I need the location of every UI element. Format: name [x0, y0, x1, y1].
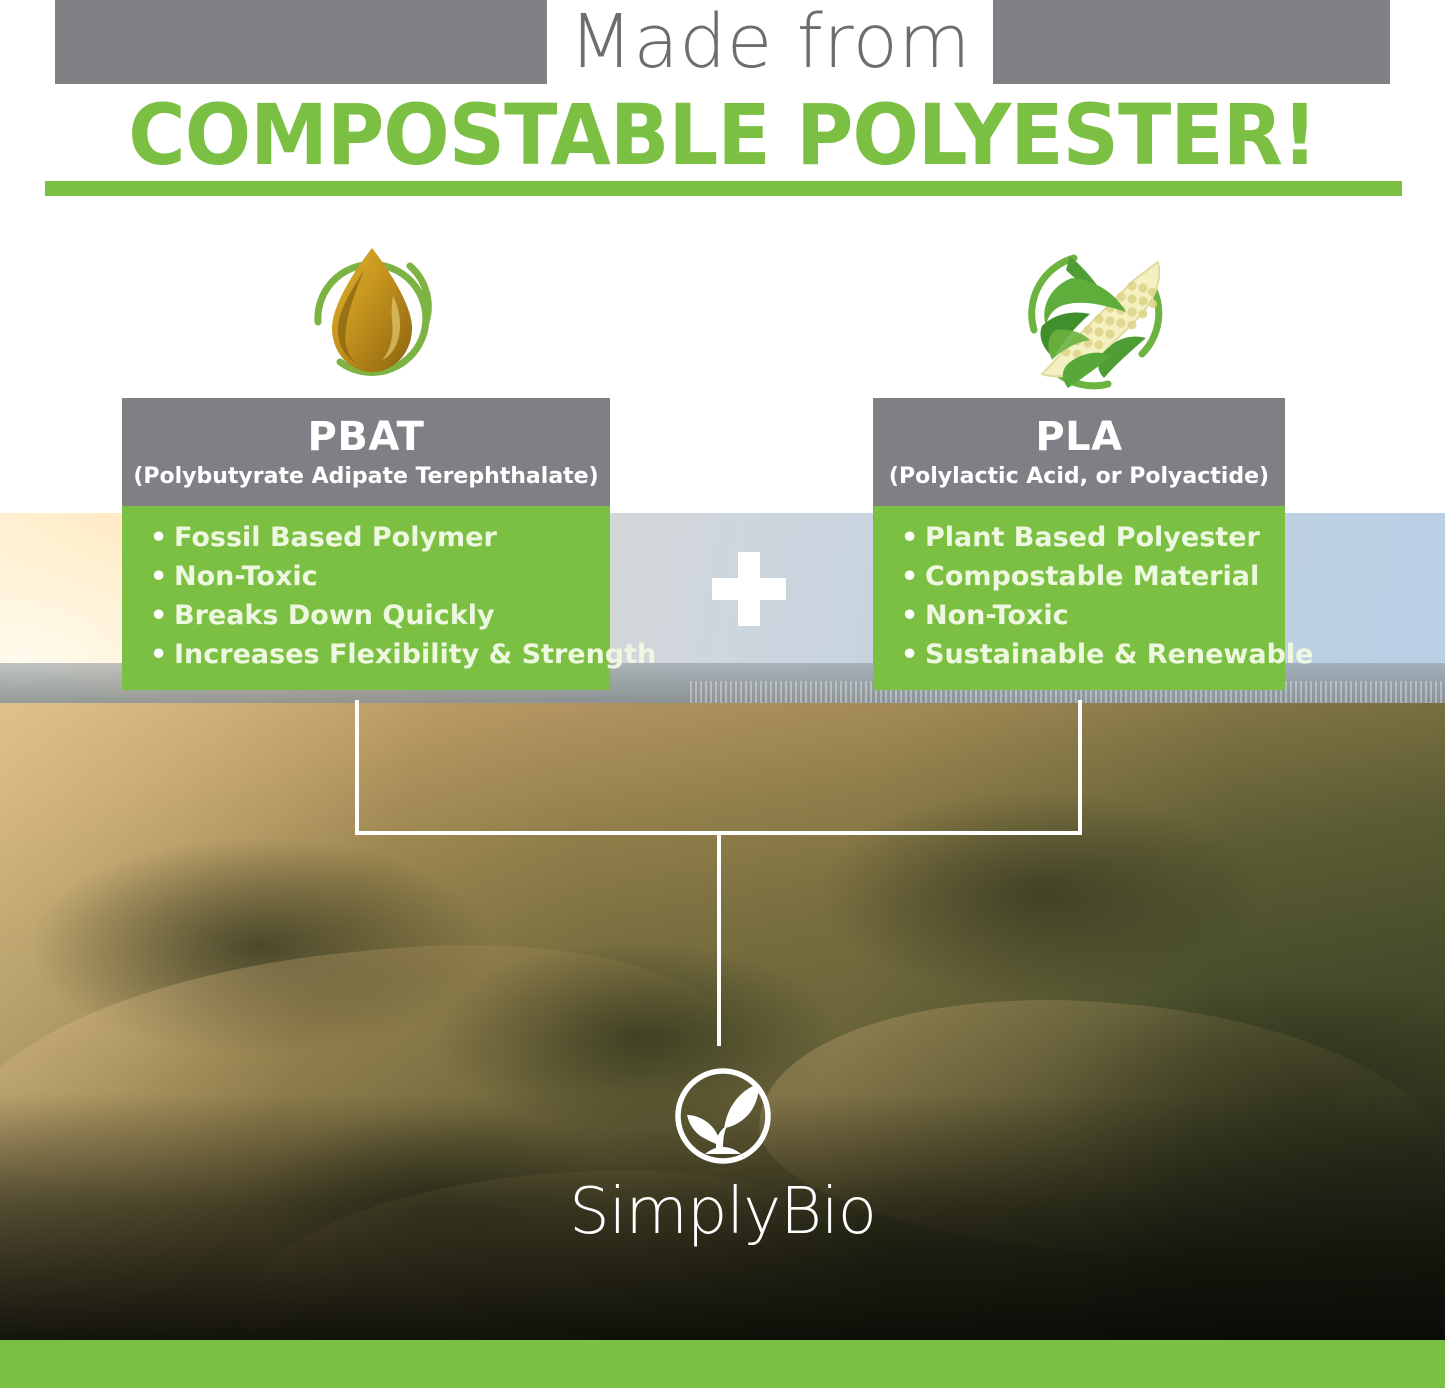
- infographic-poster: Made from COMPOSTABLE POLYESTER!: [0, 0, 1445, 1388]
- header-bar-left: [55, 0, 547, 84]
- material-feature-list: Plant Based Polyester Compostable Materi…: [873, 506, 1285, 690]
- header-band: Made from: [0, 0, 1445, 84]
- connector-line-right: [1078, 700, 1082, 835]
- list-item: Fossil Based Polymer: [148, 518, 610, 557]
- material-feature-list: Fossil Based Polymer Non-Toxic Breaks Do…: [122, 506, 610, 690]
- brand-name: SimplyBio: [0, 1176, 1445, 1248]
- plus-icon: [712, 552, 786, 626]
- eyebrow-text: Made from: [547, 0, 993, 84]
- list-item: Plant Based Polyester: [899, 518, 1285, 557]
- list-item: Non-Toxic: [899, 596, 1285, 635]
- list-item: Compostable Material: [899, 557, 1285, 596]
- connector-line-left: [355, 700, 359, 835]
- list-item: Increases Flexibility & Strength: [148, 635, 610, 674]
- brand-logo: SimplyBio: [0, 1062, 1445, 1248]
- list-item: Sustainable & Renewable: [899, 635, 1285, 674]
- connector-line-center: [717, 831, 721, 1046]
- material-title: PLA: [883, 414, 1275, 460]
- page-title: COMPOSTABLE POLYESTER!: [51, 92, 1395, 178]
- sprout-leaf-logo-icon: [669, 1062, 777, 1170]
- corn-cob-icon: [1012, 234, 1178, 396]
- header-bar-right: [993, 0, 1390, 84]
- list-item: Breaks Down Quickly: [148, 596, 610, 635]
- oil-drop-icon: [294, 236, 450, 394]
- material-subtitle: (Polylactic Acid, or Polyactide): [883, 462, 1275, 492]
- headline-underline-rule: [45, 181, 1402, 196]
- material-card-pbat: PBAT (Polybutyrate Adipate Terephthalate…: [122, 398, 610, 690]
- material-card-pla: PLA (Polylactic Acid, or Polyactide) Pla…: [873, 398, 1285, 690]
- material-title: PBAT: [132, 414, 600, 460]
- material-card-header: PLA (Polylactic Acid, or Polyactide): [873, 398, 1285, 506]
- list-item: Non-Toxic: [148, 557, 610, 596]
- bottom-accent-bar: [0, 1340, 1445, 1388]
- material-subtitle: (Polybutyrate Adipate Terephthalate): [132, 462, 600, 492]
- material-card-header: PBAT (Polybutyrate Adipate Terephthalate…: [122, 398, 610, 506]
